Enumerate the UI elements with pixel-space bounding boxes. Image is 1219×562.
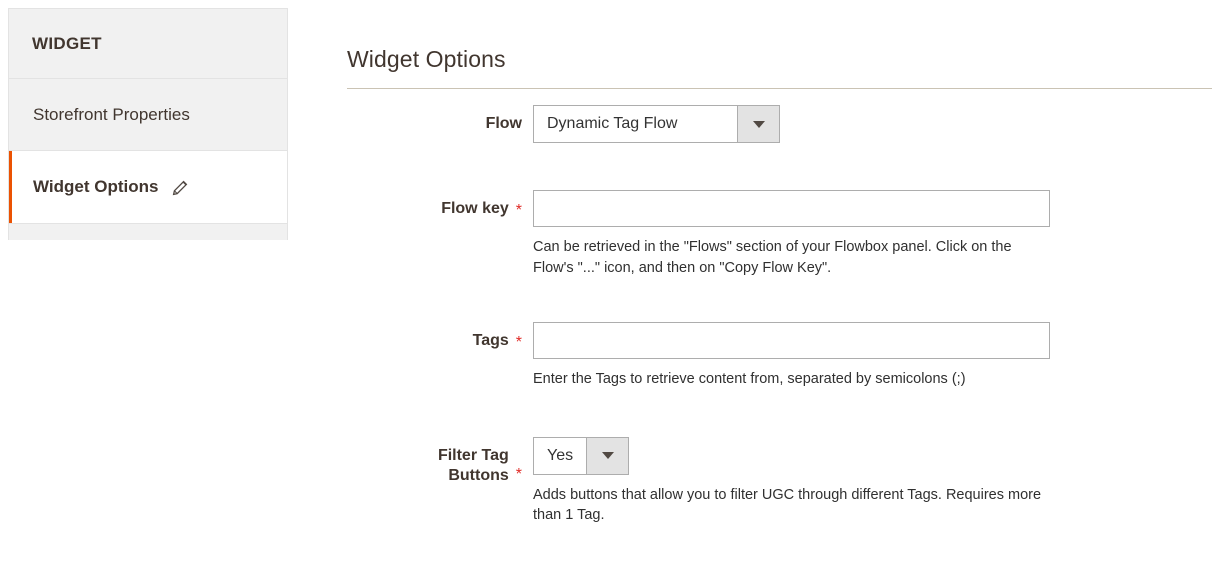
field-label-filter-tag-buttons: Filter Tag Buttons — [438, 446, 509, 486]
field-label-cell-tags: Tags * — [347, 322, 522, 352]
field-label-flow-key: Flow key — [441, 199, 509, 219]
sidebar-footer-strip — [9, 223, 287, 240]
pencil-icon[interactable] — [172, 180, 188, 196]
row-spacer — [347, 143, 1219, 190]
row-spacer — [347, 390, 1219, 437]
sidebar-item-widget-options[interactable]: Widget Options — [9, 151, 287, 223]
flow-select[interactable]: Dynamic Tag Flow — [533, 105, 780, 143]
tags-input[interactable] — [533, 322, 1050, 359]
sidebar-header: WIDGET — [9, 9, 287, 79]
flow-key-input[interactable] — [533, 190, 1050, 227]
page-title: Widget Options — [347, 46, 506, 73]
widget-options-form: Flow Dynamic Tag Flow Flow key * — [347, 105, 1219, 526]
filter-tag-buttons-select[interactable]: Yes — [533, 437, 629, 475]
field-row-filter-tag-buttons: Filter Tag Buttons * Yes Adds buttons th… — [347, 437, 1219, 526]
sidebar-item-label: Storefront Properties — [33, 105, 190, 125]
chevron-down-icon[interactable] — [737, 106, 779, 142]
sidebar-item-storefront-properties[interactable]: Storefront Properties — [9, 79, 287, 151]
caret-glyph — [753, 121, 765, 128]
row-spacer — [347, 278, 1219, 322]
field-control-tags: Enter the Tags to retrieve content from,… — [522, 322, 1219, 390]
field-label-cell-flow-key: Flow key * — [347, 190, 522, 220]
field-row-tags: Tags * Enter the Tags to retrieve conten… — [347, 322, 1219, 390]
chevron-down-icon[interactable] — [586, 438, 628, 474]
field-note-filter-tag-buttons: Adds buttons that allow you to filter UG… — [533, 485, 1051, 526]
field-row-flow: Flow Dynamic Tag Flow — [347, 105, 1219, 143]
field-label-flow: Flow — [486, 114, 522, 134]
widget-options-page: WIDGET Storefront Properties Widget Opti… — [0, 0, 1219, 562]
field-label-line-2: Buttons — [448, 467, 508, 484]
field-note-flow-key: Can be retrieved in the "Flows" section … — [533, 237, 1053, 278]
flow-select-value: Dynamic Tag Flow — [534, 106, 737, 142]
field-row-flow-key: Flow key * Can be retrieved in the "Flow… — [347, 190, 1219, 278]
field-label-tags: Tags — [473, 331, 509, 351]
field-label-cell-filter-tag-buttons: Filter Tag Buttons * — [347, 437, 522, 486]
field-note-tags: Enter the Tags to retrieve content from,… — [533, 369, 1053, 390]
field-control-filter-tag-buttons: Yes Adds buttons that allow you to filte… — [522, 437, 1219, 526]
filter-tag-buttons-select-value: Yes — [534, 438, 586, 474]
title-divider — [347, 88, 1212, 89]
field-control-flow-key: Can be retrieved in the "Flows" section … — [522, 190, 1219, 278]
field-label-cell-flow: Flow — [347, 105, 522, 134]
widget-sidebar: WIDGET Storefront Properties Widget Opti… — [8, 8, 288, 240]
field-control-flow: Dynamic Tag Flow — [522, 105, 1219, 143]
sidebar-item-label: Widget Options — [33, 177, 158, 197]
caret-glyph — [602, 452, 614, 459]
field-label-line-1: Filter Tag — [438, 447, 509, 464]
main-content: Widget Options Flow Dynamic Tag Flow — [347, 0, 1219, 562]
